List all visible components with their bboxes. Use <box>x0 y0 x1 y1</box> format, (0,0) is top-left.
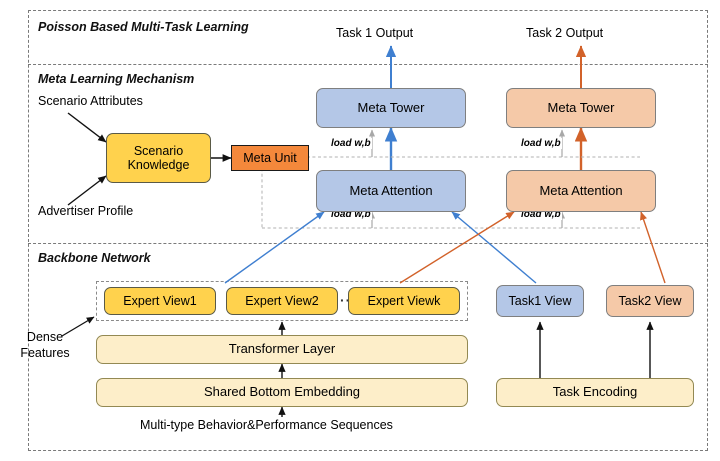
meta-attention-task2-label: Meta Attention <box>539 184 622 199</box>
load-wb-label-tower2: load w,b <box>520 138 562 149</box>
task1-output-label: Task 1 Output <box>336 26 413 40</box>
shared-bottom-embedding-label: Shared Bottom Embedding <box>204 385 360 400</box>
meta-unit[interactable]: Meta Unit <box>231 145 309 171</box>
diagram-canvas: Poisson Based Multi-Task Learning Meta L… <box>0 0 720 461</box>
meta-unit-label: Meta Unit <box>243 151 297 165</box>
transformer-layer[interactable]: Transformer Layer <box>96 335 468 364</box>
meta-tower-task1[interactable]: Meta Tower <box>316 88 466 128</box>
meta-tower-task2[interactable]: Meta Tower <box>506 88 656 128</box>
scenario-knowledge-line2: Knowledge <box>128 158 190 172</box>
shared-bottom-embedding[interactable]: Shared Bottom Embedding <box>96 378 468 407</box>
section-title-backbone: Backbone Network <box>38 251 151 265</box>
meta-attention-task1-label: Meta Attention <box>349 184 432 199</box>
task-encoding-label: Task Encoding <box>553 385 638 400</box>
meta-tower-task2-label: Meta Tower <box>548 101 615 116</box>
task2-view[interactable]: Task2 View <box>606 285 694 317</box>
section-title-meta: Meta Learning Mechanism <box>38 72 194 86</box>
section-title-outer: Poisson Based Multi-Task Learning <box>38 20 249 34</box>
transformer-layer-label: Transformer Layer <box>229 342 335 357</box>
task2-view-label: Task2 View <box>619 294 682 308</box>
section-backbone-divider <box>28 243 708 244</box>
dense-features-line1: Dense <box>27 330 63 344</box>
dense-features-label: Dense Features <box>14 330 76 361</box>
expert-view-1-label: Expert View1 <box>123 294 196 308</box>
expert-view-k[interactable]: Expert Viewk <box>348 287 460 315</box>
task-encoding[interactable]: Task Encoding <box>496 378 694 407</box>
task1-view-label: Task1 View <box>509 294 572 308</box>
expert-view-1[interactable]: Expert View1 <box>104 287 216 315</box>
task1-view[interactable]: Task1 View <box>496 285 584 317</box>
task2-output-label: Task 2 Output <box>526 26 603 40</box>
expert-view-k-label: Expert Viewk <box>368 294 441 308</box>
meta-attention-task2[interactable]: Meta Attention <box>506 170 656 212</box>
input-caption-label: Multi-type Behavior&Performance Sequence… <box>140 418 393 432</box>
expert-view-2-label: Expert View2 <box>245 294 318 308</box>
scenario-knowledge-line1: Scenario <box>134 144 183 158</box>
meta-attention-task1[interactable]: Meta Attention <box>316 170 466 212</box>
load-wb-label-tower1: load w,b <box>330 138 372 149</box>
scenario-knowledge[interactable]: Scenario Knowledge <box>106 133 211 183</box>
section-meta-divider <box>28 64 708 65</box>
scenario-attributes-label: Scenario Attributes <box>38 94 143 108</box>
advertiser-profile-label: Advertiser Profile <box>38 204 133 218</box>
expert-view-2[interactable]: Expert View2 <box>226 287 338 315</box>
dense-features-line2: Features <box>20 346 69 360</box>
meta-tower-task1-label: Meta Tower <box>358 101 425 116</box>
